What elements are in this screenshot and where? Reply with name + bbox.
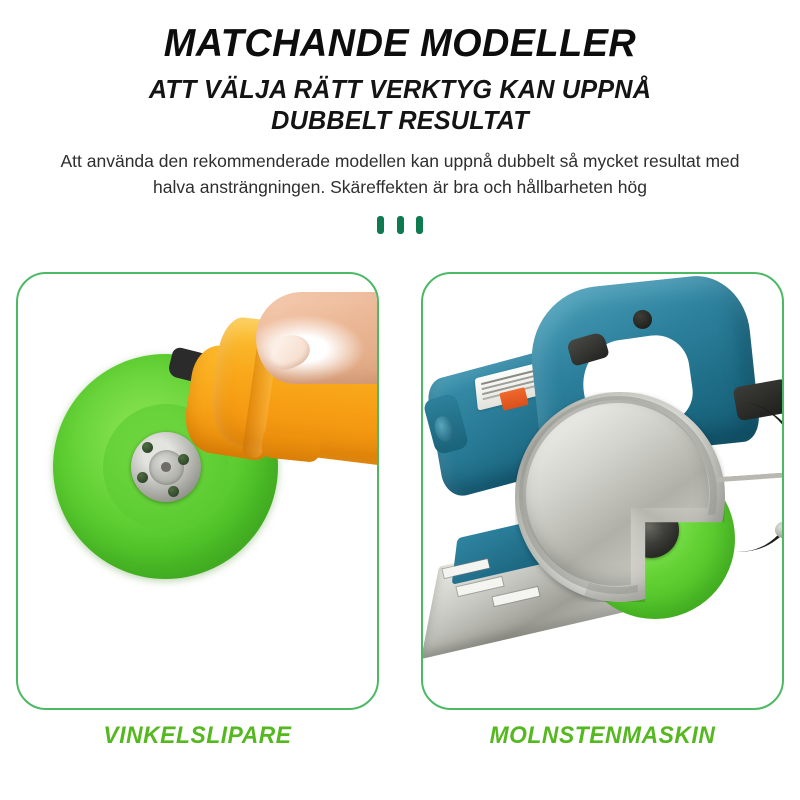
page-subtitle: ATT VÄLJA RÄTT VERKTYG KAN UPPNÅ DUBBELT… xyxy=(90,74,711,135)
hand-icon xyxy=(256,292,379,384)
header: MATCHANDE MODELLER ATT VÄLJA RÄTT VERKTY… xyxy=(0,0,800,200)
card-angle-grinder[interactable] xyxy=(16,272,379,710)
lock-knob-icon xyxy=(633,310,652,329)
disc-hub-icon xyxy=(131,432,201,502)
hub-bolt xyxy=(142,442,153,453)
hub-bolt xyxy=(137,472,148,483)
divider-bar-1 xyxy=(377,216,384,234)
divider-bar-3 xyxy=(416,216,423,234)
card-tile-cutter[interactable] xyxy=(421,272,784,710)
page-title: MATCHANDE MODELLER xyxy=(12,24,788,65)
divider-bars xyxy=(377,216,423,234)
caption-angle-grinder: VINKELSLIPARE xyxy=(25,722,370,750)
divider-bar-2 xyxy=(397,216,404,234)
hub-bolt xyxy=(178,454,189,465)
product-captions: VINKELSLIPARE MOLNSTENMASKIN xyxy=(16,722,784,750)
promo-page: MATCHANDE MODELLER ATT VÄLJA RÄTT VERKTY… xyxy=(0,0,800,800)
caption-tile-cutter: MOLNSTENMASKIN xyxy=(430,722,775,750)
product-cards xyxy=(16,272,784,710)
tile-cutter-photo xyxy=(423,274,782,708)
adjust-screw-icon xyxy=(775,522,784,538)
hub-bolt xyxy=(168,486,179,497)
angle-grinder-photo xyxy=(18,274,377,708)
lead-paragraph: Att använda den rekommenderade modellen … xyxy=(50,149,750,200)
